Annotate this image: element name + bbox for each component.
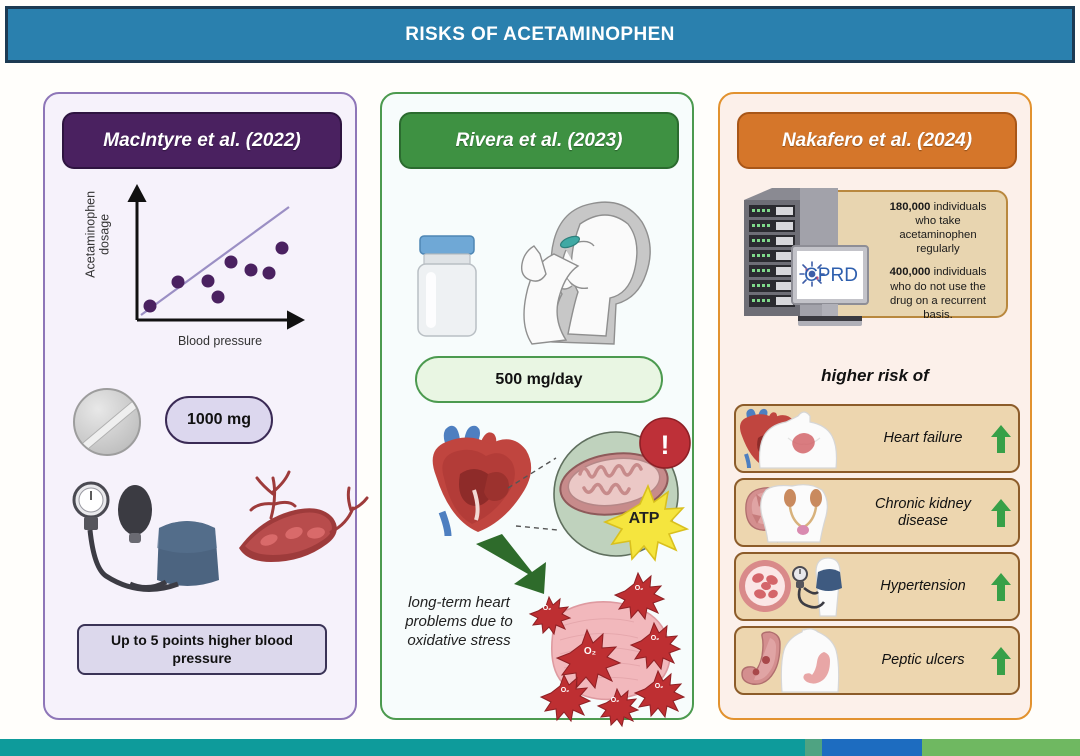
oxidative-tissue-illustration: O₂O₂O₂ O₂O₂ O₂O₂ [522, 564, 690, 714]
strip-segment-seagreen [805, 739, 822, 756]
risk-arrow-hypertension [984, 572, 1018, 602]
heart-icon [736, 406, 864, 471]
risk-arrow-peptic-ulcers [984, 646, 1018, 676]
svg-text:O₂: O₂ [651, 635, 660, 642]
svg-text:!: ! [661, 430, 670, 460]
risk-row-peptic-ulcers[interactable]: Peptic ulcers [734, 626, 1020, 695]
risk-list: Heart failure [734, 404, 1020, 700]
pill-bottle-icon [418, 236, 476, 336]
risk-label-hypertension: Hypertension [864, 578, 984, 595]
panels-container: MacIntyre et al. (2022) [0, 92, 1080, 722]
heart-icon [433, 426, 531, 536]
svg-text:CPRD: CPRD [804, 265, 858, 286]
page-title: RISKS OF ACETAMINOPHEN [405, 24, 675, 46]
risk-row-chronic-kidney-disease[interactable]: Chronic kidney disease [734, 478, 1020, 547]
body-silhouette-icon [761, 485, 828, 542]
panel-macintyre: MacIntyre et al. (2022) [43, 92, 357, 720]
daily-dose-badge: 500 mg/day [415, 356, 663, 403]
alert-icon: ! [640, 418, 690, 468]
blood-vessel-icon [239, 472, 367, 562]
person-taking-pill-icon [522, 202, 650, 344]
oxidative-stress-note: long-term heart problems due to oxidativ… [400, 594, 518, 650]
tablet-icon [73, 388, 141, 456]
atp-label: ATP [629, 510, 660, 527]
scatter-chart-svg [75, 182, 325, 332]
database-illustration: CPRD [736, 182, 846, 327]
blood-pressure-cuff-icon [74, 483, 219, 589]
panel-title-rivera: Rivera et al. (2023) [456, 130, 623, 152]
chart-x-axis-label: Blood pressure [135, 334, 305, 348]
svg-text:O₂: O₂ [611, 697, 620, 704]
panel-header-macintyre: MacIntyre et al. (2022) [62, 112, 342, 169]
dose-badge: 1000 mg [165, 396, 273, 444]
svg-text:O₂: O₂ [655, 683, 664, 690]
strip-segment-blue [822, 739, 922, 756]
blood-pressure-illustration [63, 470, 348, 605]
chart-y-axis-label: Acetaminophen dosage [84, 179, 113, 289]
risk-label-peptic-ulcers: Peptic ulcers [864, 652, 984, 669]
infographic-page: RISKS OF ACETAMINOPHEN MacIntyre et al. … [0, 0, 1080, 756]
bottom-color-strip [0, 739, 1080, 756]
svg-text:O₂: O₂ [561, 687, 570, 694]
mitochondria-illustration: ATP ! [388, 412, 688, 572]
blood-cell-icon [736, 554, 864, 619]
svg-text:O₂: O₂ [543, 605, 552, 612]
risk-arrow-heart-failure [984, 424, 1018, 454]
strip-segment-teal [0, 739, 805, 756]
header-banner: RISKS OF ACETAMINOPHEN [5, 6, 1075, 63]
risk-arrow-chronic-kidney-disease [984, 498, 1018, 528]
svg-text:O₂: O₂ [635, 585, 644, 592]
panel-nakafero: Nakafero et al. (2024) 180,000 individua… [718, 92, 1032, 720]
pill-taking-illustration [394, 180, 684, 348]
risk-label-chronic-kidney-disease: Chronic kidney disease [864, 496, 984, 529]
panel-header-rivera: Rivera et al. (2023) [399, 112, 679, 169]
panel-title-nakafero: Nakafero et al. (2024) [782, 130, 972, 152]
cprd-logo: CPRD [800, 262, 858, 286]
risk-row-hypertension[interactable]: Hypertension [734, 552, 1020, 621]
scatter-chart: Acetaminophen dosage Blood pressure [75, 182, 325, 357]
svg-text:O₂: O₂ [584, 646, 596, 657]
strip-segment-lightgreen [922, 739, 1080, 756]
risk-heading: higher risk of [720, 366, 1030, 386]
risk-label-heart-failure: Heart failure [864, 430, 984, 447]
risk-row-heart-failure[interactable]: Heart failure [734, 404, 1020, 473]
stomach-icon [736, 628, 864, 693]
body-silhouette-icon [781, 629, 838, 692]
footer-note-macintyre: Up to 5 points higher blood pressure [77, 624, 327, 675]
panel-rivera: Rivera et al. (2023) [380, 92, 694, 720]
dose-row: 1000 mg [73, 386, 333, 458]
panel-header-nakafero: Nakafero et al. (2024) [737, 112, 1017, 169]
panel-title-macintyre: MacIntyre et al. (2022) [103, 130, 300, 152]
kidney-icon [736, 480, 864, 545]
blood-pressure-cuff-icon [793, 558, 842, 616]
